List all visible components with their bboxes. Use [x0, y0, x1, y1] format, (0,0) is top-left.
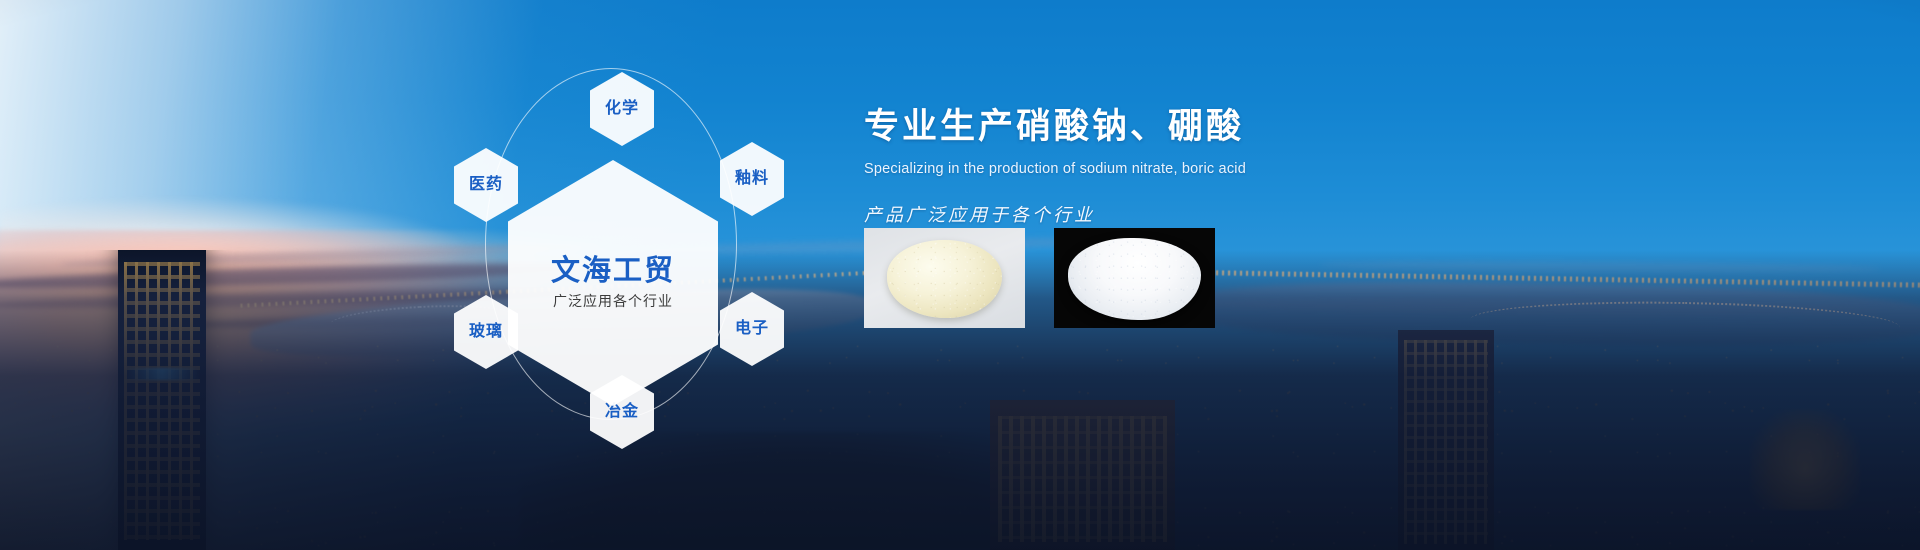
product-photo-sodium-nitrate[interactable] [864, 228, 1025, 328]
hex-node-label: 冶金 [605, 403, 639, 421]
powder-heap [1068, 238, 1200, 320]
brand-name: 文海工贸 [551, 256, 675, 288]
headline: 专业生产硝酸钠、硼酸 [864, 98, 1564, 149]
hex-node-label: 化学 [605, 100, 639, 118]
subtitle-chinese: 产品广泛应用于各个行业 [864, 201, 1564, 227]
marketing-copy: 专业生产硝酸钠、硼酸 Specializing in the productio… [864, 98, 1564, 227]
hex-node-label: 电子 [735, 320, 769, 338]
industry-hex-diagram: 化学 釉料 医药 玻璃 电子 冶金 文海工贸 广泛应用各个行业 [430, 30, 790, 450]
powder-heap [887, 240, 1003, 318]
hex-node-label: 釉料 [735, 170, 769, 188]
product-photo-boric-acid[interactable] [1054, 228, 1215, 328]
banner-stage: 化学 釉料 医药 玻璃 电子 冶金 文海工贸 广泛应用各个行业 专业生产硝酸钠、… [0, 0, 1920, 550]
hex-node-label: 医药 [469, 176, 503, 194]
subtitle-english: Specializing in the production of sodium… [864, 161, 1564, 177]
product-photo-gallery [864, 228, 1215, 328]
hex-node-label: 玻璃 [469, 323, 503, 341]
brand-slogan: 广泛应用各个行业 [553, 294, 673, 309]
